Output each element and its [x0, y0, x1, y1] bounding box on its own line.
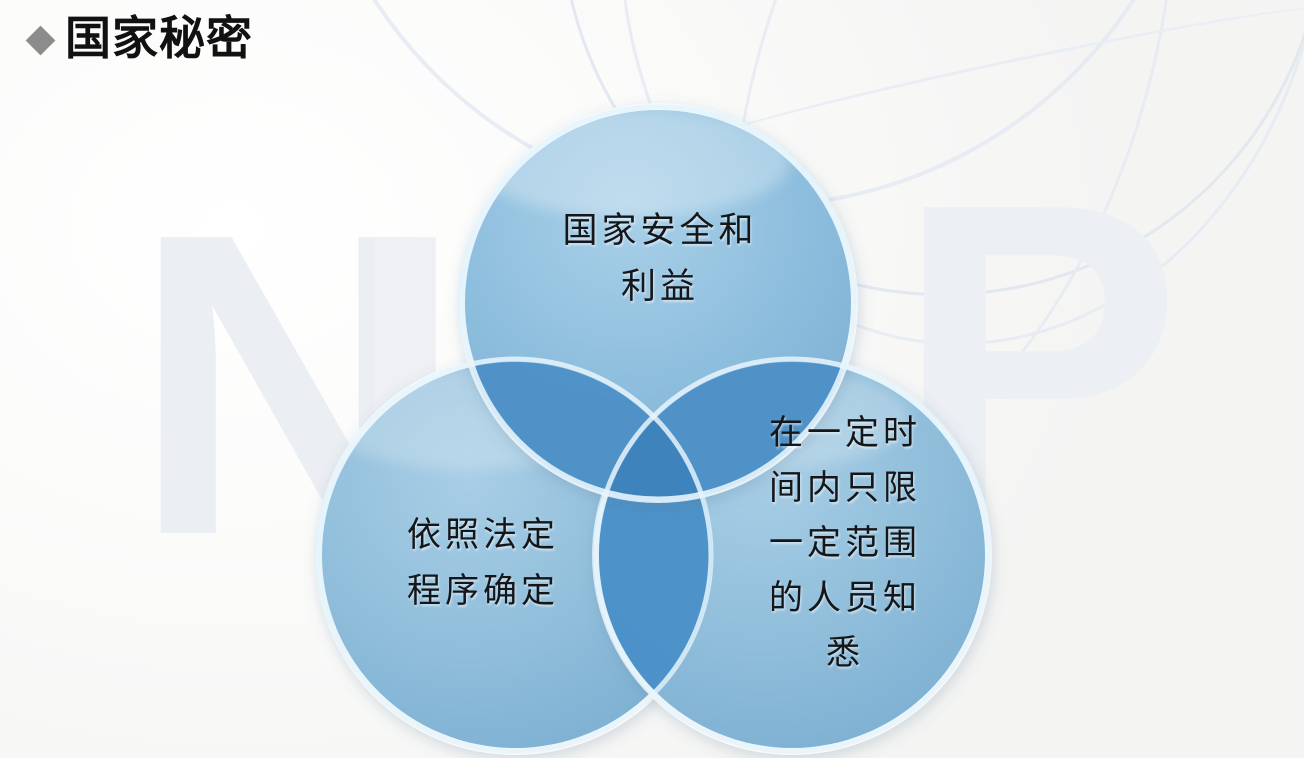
slide-canvas: N I P 国家秘密: [0, 0, 1304, 758]
venn-diagram: [0, 0, 1304, 758]
